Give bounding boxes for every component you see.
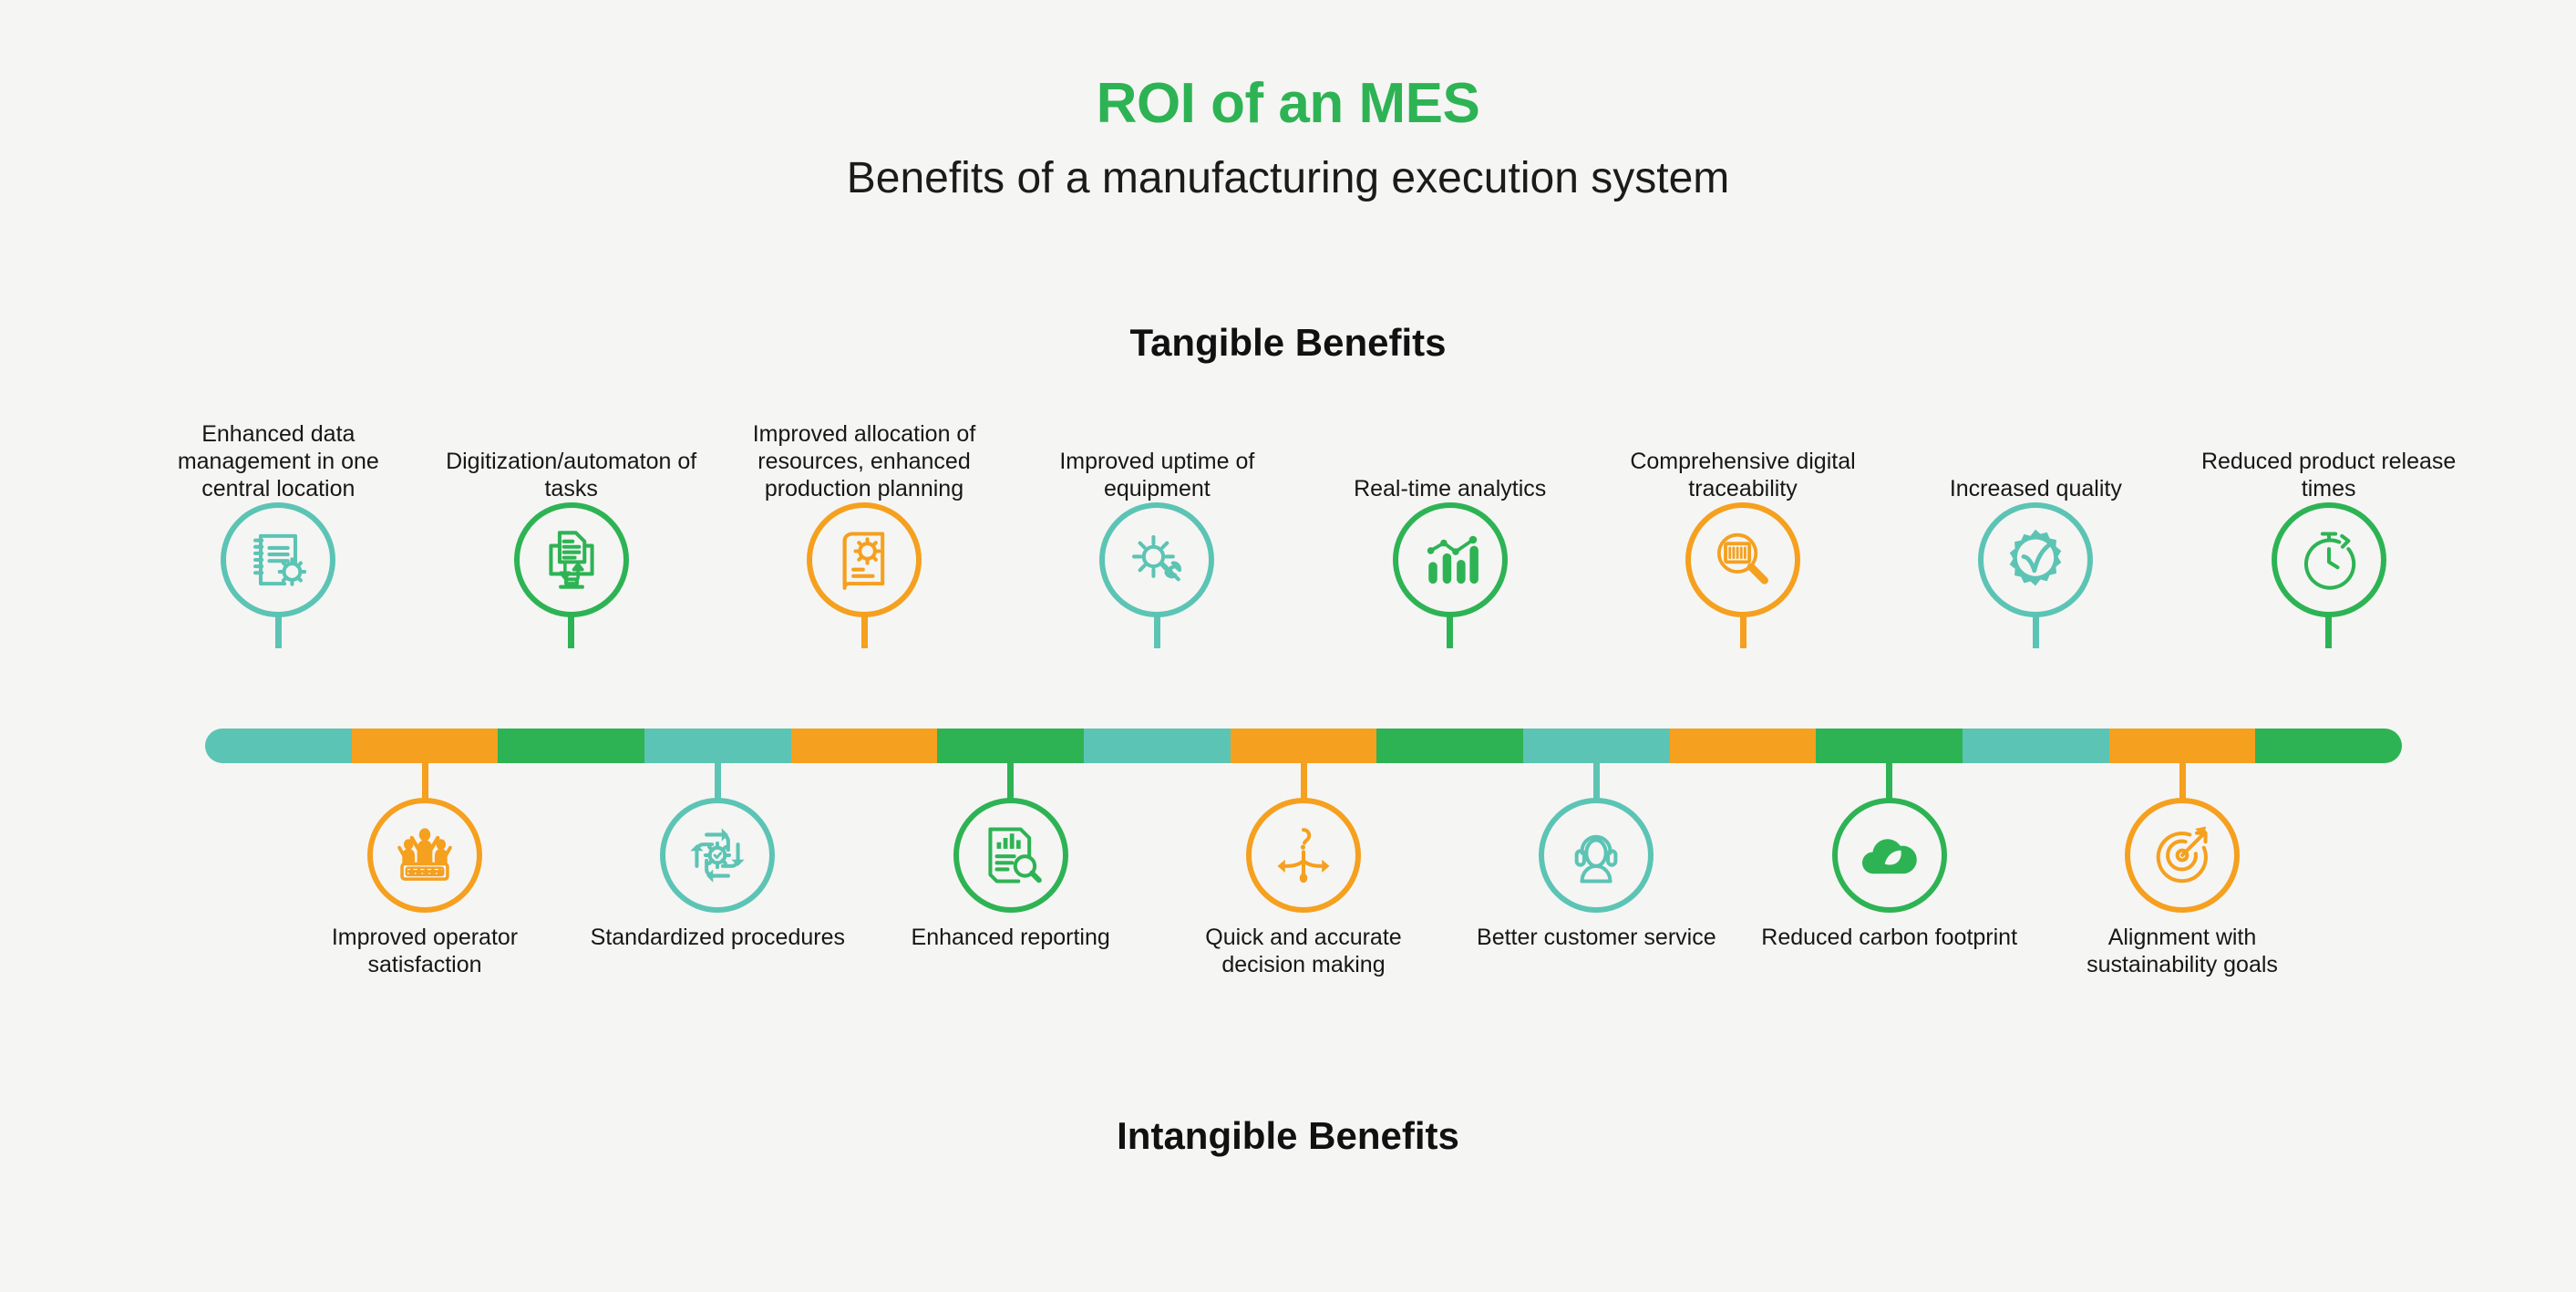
page-subtitle: Benefits of a manufacturing execution sy… (0, 153, 2576, 203)
benefit-icon-circle[interactable] (514, 502, 629, 617)
tangible-benefit-node[interactable]: Enhanced data management in one central … (141, 451, 415, 652)
intangible-benefit-node[interactable]: Reduced carbon footprint (1753, 763, 2026, 1000)
benefit-label: Reduced carbon footprint (1753, 924, 2026, 951)
cycle-gear-check-icon (683, 821, 752, 890)
connector-stem (2179, 763, 2186, 801)
tangible-benefits-heading: Tangible Benefits (0, 321, 2576, 365)
tangible-benefit-node[interactable]: Comprehensive digital traceability (1606, 451, 1880, 652)
barcode-magnifier-icon (1708, 525, 1777, 594)
connector-stem (1154, 612, 1160, 648)
benefit-label: Improved operator satisfaction (288, 924, 562, 978)
people-five-stars-icon (390, 821, 459, 890)
clipboard-gear-icon (829, 525, 899, 594)
benefit-label: Improved allocation of resources, enhanc… (727, 420, 1001, 502)
intangible-benefit-node[interactable]: Alignment with sustainability goals (2045, 763, 2319, 1000)
benefit-label: Digitization/automaton of tasks (435, 448, 708, 502)
benefit-label: Enhanced data management in one central … (141, 420, 415, 502)
benefit-icon-circle[interactable] (1393, 502, 1508, 617)
timeline-segment (2109, 729, 2256, 763)
connector-stem (1593, 763, 1600, 801)
benefit-icon-circle[interactable] (1978, 502, 2093, 617)
connector-stem (1740, 612, 1747, 648)
intangible-benefit-node[interactable]: Improved operator satisfaction (288, 763, 562, 1000)
connector-stem (275, 612, 282, 648)
benefit-label: Better customer service (1459, 924, 1733, 951)
gear-wrench-icon (1122, 525, 1191, 594)
benefit-icon-circle[interactable] (221, 502, 335, 617)
timeline-segment (1523, 729, 1670, 763)
benefit-icon-circle[interactable] (953, 798, 1068, 913)
benefit-icon-circle[interactable] (2272, 502, 2386, 617)
quality-badge-check-icon (2001, 525, 2070, 594)
benefit-icon-circle[interactable] (2125, 798, 2240, 913)
tangible-benefit-node[interactable]: Real-time analytics (1314, 451, 1587, 652)
benefit-icon-circle[interactable] (1685, 502, 1800, 617)
connector-stem (1007, 763, 1014, 801)
timeline-segment (2255, 729, 2402, 763)
connector-stem (422, 763, 428, 801)
connector-stem (1447, 612, 1453, 648)
timeline-segment (498, 729, 644, 763)
timeline-segment (1084, 729, 1231, 763)
page-title: ROI of an MES (0, 71, 2576, 136)
timeline-segment (1376, 729, 1523, 763)
timeline-bar (205, 729, 2402, 763)
benefit-icon-circle[interactable] (807, 502, 922, 617)
tangible-benefit-node[interactable]: Increased quality (1899, 451, 2172, 652)
benefit-icon-circle[interactable] (367, 798, 482, 913)
cloud-leaf-icon (1855, 821, 1924, 890)
benefit-label: Reduced product release times (2192, 448, 2466, 502)
intangible-benefits-heading: Intangible Benefits (0, 1114, 2576, 1158)
infographic-canvas: ROI of an MES Benefits of a manufacturin… (0, 0, 2576, 1292)
headset-agent-icon (1561, 821, 1631, 890)
timeline-segment (1816, 729, 1963, 763)
benefit-icon-circle[interactable] (1099, 502, 1214, 617)
timeline-segment (352, 729, 499, 763)
timeline-segment (791, 729, 938, 763)
connector-stem (861, 612, 868, 648)
connector-stem (568, 612, 574, 648)
intangible-benefit-node[interactable]: Better customer service (1459, 763, 1733, 1000)
connector-stem (715, 763, 721, 801)
connector-stem (2325, 612, 2332, 648)
tangible-benefit-node[interactable]: Digitization/automaton of tasks (435, 451, 708, 652)
benefit-icon-circle[interactable] (1832, 798, 1947, 913)
benefit-label: Real-time analytics (1314, 475, 1587, 502)
benefit-label: Increased quality (1899, 475, 2172, 502)
connector-stem (2033, 612, 2039, 648)
intangible-benefit-node[interactable]: Enhanced reporting (874, 763, 1148, 1000)
benefit-icon-circle[interactable] (660, 798, 775, 913)
timeline-segment (644, 729, 791, 763)
benefit-label: Comprehensive digital traceability (1606, 448, 1880, 502)
connector-stem (1301, 763, 1307, 801)
benefit-label: Alignment with sustainability goals (2045, 924, 2319, 978)
notebook-gear-icon (243, 525, 313, 594)
benefit-label: Improved uptime of equipment (1020, 448, 1293, 502)
benefit-label: Standardized procedures (581, 924, 854, 951)
timeline-segment (1963, 729, 2109, 763)
intangible-benefit-node[interactable]: Standardized procedures (581, 763, 854, 1000)
monitor-document-transfer-icon (537, 525, 606, 594)
timeline-segment (1231, 729, 1377, 763)
benefit-icon-circle[interactable] (1246, 798, 1361, 913)
bar-chart-trend-icon (1416, 525, 1485, 594)
tangible-benefit-node[interactable]: Reduced product release times (2192, 451, 2466, 652)
timeline-segment (205, 729, 352, 763)
tangible-benefit-node[interactable]: Improved uptime of equipment (1020, 451, 1293, 652)
benefit-label: Quick and accurate decision making (1167, 924, 1440, 978)
benefit-icon-circle[interactable] (1539, 798, 1654, 913)
tangible-benefit-node[interactable]: Improved allocation of resources, enhanc… (727, 451, 1001, 652)
benefit-label: Enhanced reporting (874, 924, 1148, 951)
decision-arrows-question-icon (1269, 821, 1338, 890)
connector-stem (1886, 763, 1892, 801)
intangible-benefit-node[interactable]: Quick and accurate decision making (1167, 763, 1440, 1000)
timeline-segment (937, 729, 1084, 763)
timeline-segment (1670, 729, 1817, 763)
report-magnifier-icon (976, 821, 1046, 890)
stopwatch-arrow-icon (2294, 525, 2364, 594)
target-arrow-icon (2148, 821, 2217, 890)
